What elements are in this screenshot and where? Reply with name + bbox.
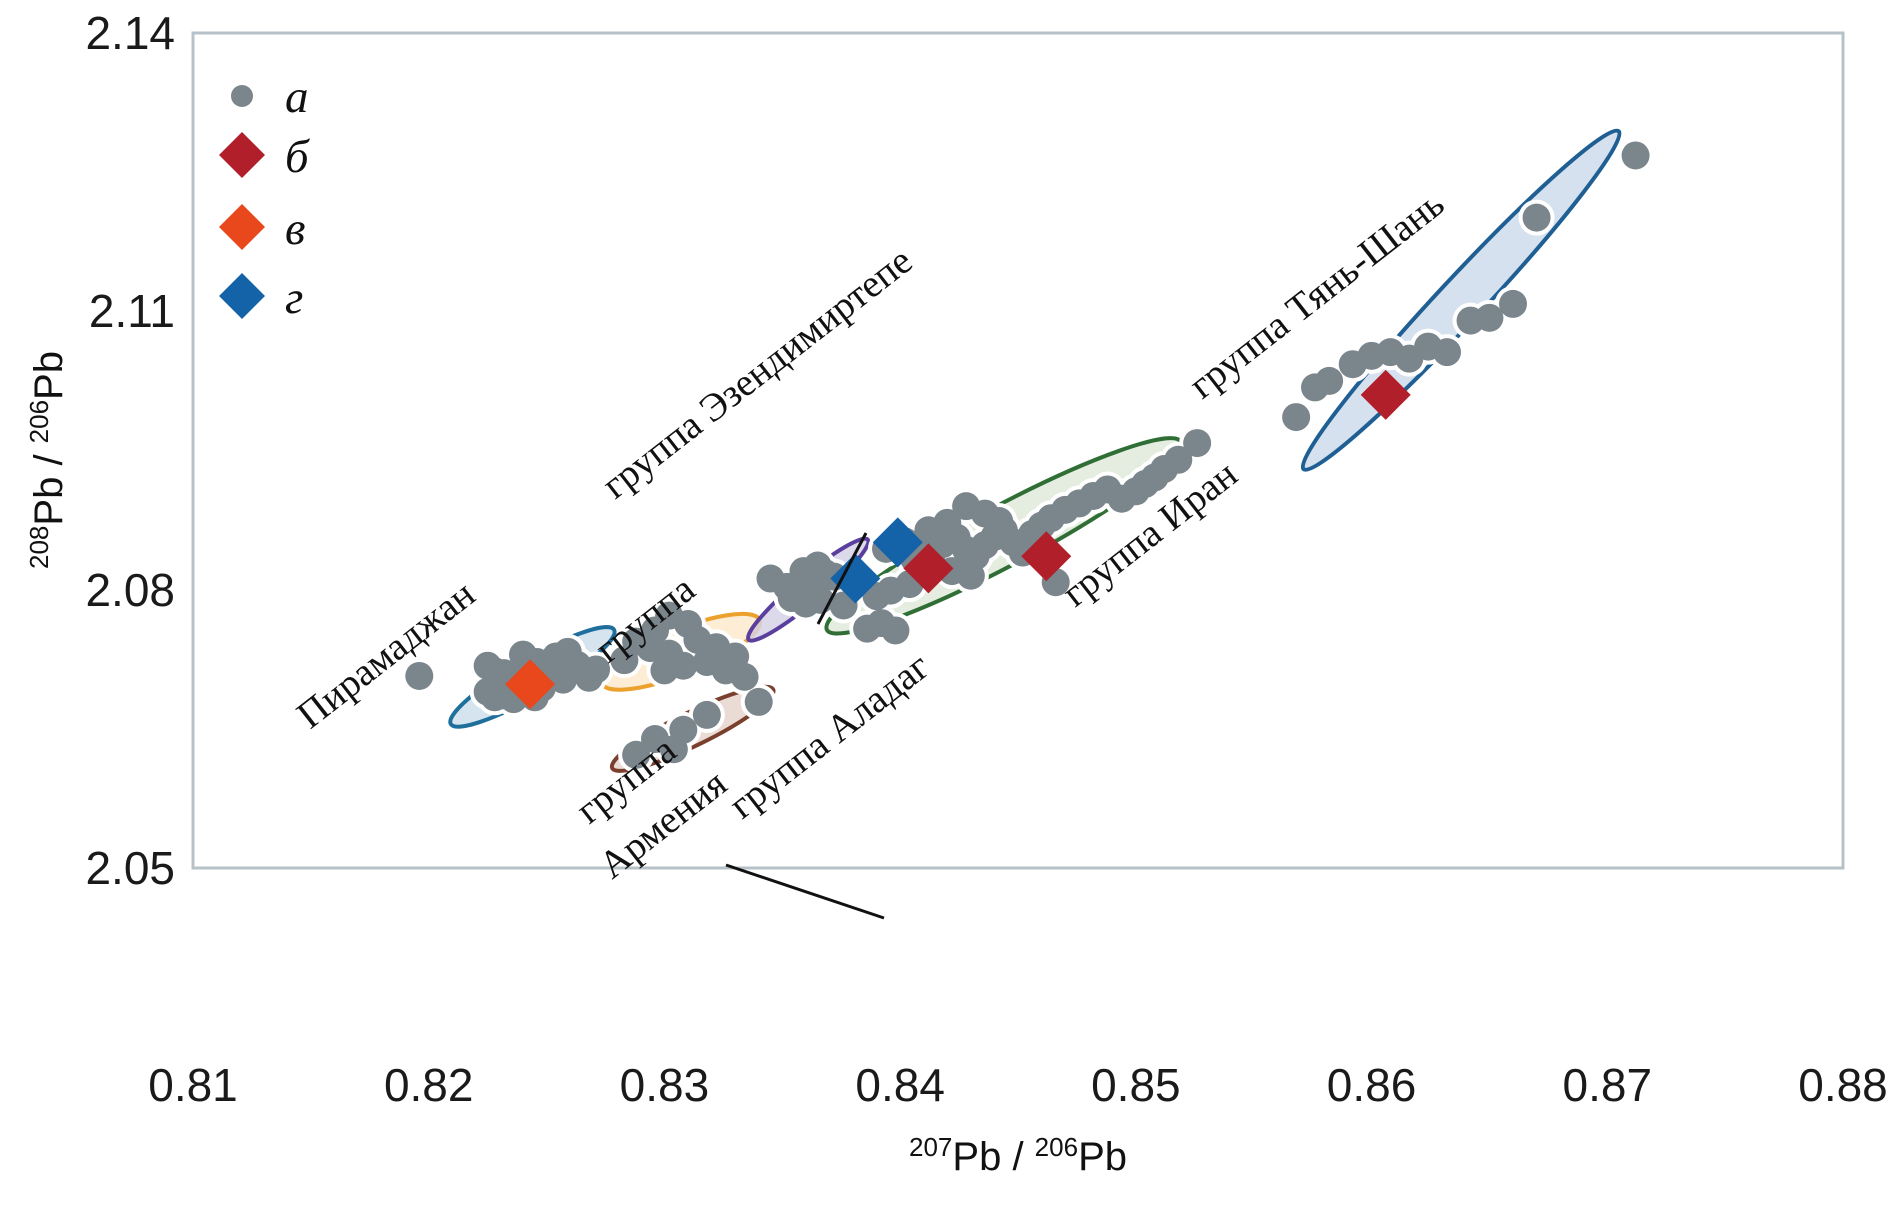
- legend-label-b: б: [285, 131, 310, 183]
- legend-marker-a-circle-icon: [231, 85, 253, 107]
- data-point-circle: [1499, 290, 1527, 318]
- data-point-circle: [554, 638, 582, 666]
- y-tick-label-2.08: 2.08: [85, 564, 175, 616]
- legend-label-g: г: [285, 272, 303, 324]
- data-point-circle: [1523, 204, 1551, 232]
- x-tick-label-0.84: 0.84: [855, 1059, 945, 1111]
- svg-text:208Pb / 206Pb: 208Pb / 206Pb: [24, 351, 71, 569]
- x-tick-label-0.88: 0.88: [1798, 1059, 1888, 1111]
- data-point-circle: [853, 615, 881, 643]
- legend-marker-b-diamond-icon: [219, 132, 265, 178]
- x-tick-label-0.82: 0.82: [384, 1059, 474, 1111]
- x-tick-label-0.83: 0.83: [620, 1059, 710, 1111]
- data-point-circle: [957, 562, 985, 590]
- chart-figure: группа Пирамаджан группа Аладаг группа А…: [0, 0, 1890, 1211]
- x-tick-label-0.86: 0.86: [1327, 1059, 1417, 1111]
- y-axis-title-sup-206: 206: [24, 400, 54, 443]
- data-point-circle: [1183, 429, 1211, 457]
- data-point-circle: [881, 616, 909, 644]
- y-tick-label-2.11: 2.11: [89, 285, 175, 337]
- svg-text:207Pb / 206Pb: 207Pb / 206Pb: [909, 1132, 1127, 1179]
- data-point-circle: [1282, 403, 1310, 431]
- leader-line-aladag: [726, 865, 884, 918]
- y-axis-title: 208Pb / 206Pb: [24, 351, 71, 569]
- data-point-circle: [1622, 141, 1650, 169]
- y-axis-title-base-pb1: Pb: [27, 477, 71, 526]
- cluster-ellipse-layer: [441, 116, 1634, 783]
- y-axis-title-base-pb2: Pb: [27, 351, 71, 400]
- x-axis-title: 207Pb / 206Pb: [909, 1132, 1127, 1179]
- x-axis-title-base-pb1: Pb: [952, 1135, 1001, 1179]
- y-tick-label-2.05: 2.05: [85, 842, 175, 894]
- scatter-plot: группа Пирамаджан группа Аладаг группа А…: [0, 0, 1890, 1211]
- x-axis-title-sup-207: 207: [909, 1132, 952, 1162]
- x-tick-label-0.85: 0.85: [1091, 1059, 1181, 1111]
- data-point-circle: [731, 663, 759, 691]
- x-tick-label-0.81: 0.81: [148, 1059, 238, 1111]
- legend: а б в г: [219, 71, 310, 324]
- legend-marker-v-diamond-icon: [219, 204, 265, 250]
- x-axis-tick-labels: 0.810.820.830.840.850.860.870.88: [148, 1059, 1888, 1111]
- x-tick-label-0.87: 0.87: [1563, 1059, 1653, 1111]
- y-axis-title-sup-208: 208: [24, 526, 54, 569]
- data-point-circle: [1475, 304, 1503, 332]
- cluster-annotations: группа Пирамаджан группа Аладаг группа А…: [289, 182, 1452, 887]
- data-point-circle: [745, 688, 773, 716]
- cluster-label-ezendimirtepe: группа Эзендимиртепе: [594, 239, 920, 507]
- data-point-circle: [693, 701, 721, 729]
- y-axis-tick-labels: 2.14 2.11 2.08 2.05: [85, 7, 175, 894]
- data-point-circle: [1433, 338, 1461, 366]
- data-point-circle: [650, 656, 678, 684]
- x-axis-title-sup-206: 206: [1035, 1132, 1078, 1162]
- y-tick-label-2.14: 2.14: [85, 7, 175, 59]
- data-point-circle: [405, 662, 433, 690]
- data-point-layer: [404, 140, 1650, 769]
- legend-marker-g-diamond-icon: [219, 273, 265, 319]
- y-axis-title-separator: /: [27, 443, 71, 476]
- legend-label-a: а: [285, 71, 309, 123]
- x-axis-title-base-pb2: Pb: [1078, 1135, 1127, 1179]
- legend-label-v: в: [285, 203, 305, 255]
- data-point-circle: [1315, 367, 1343, 395]
- x-axis-title-separator: /: [1001, 1135, 1034, 1179]
